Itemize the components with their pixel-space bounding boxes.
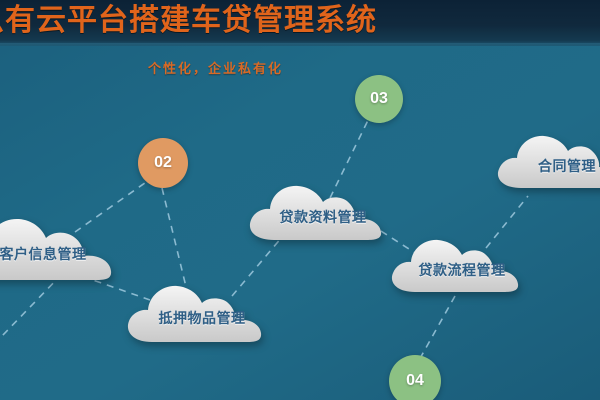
cloud-loan-process[interactable]: 贷款流程管理 [386,232,538,300]
cloud-loan-documents[interactable]: 贷款资料管理 [244,178,402,248]
node-03-label: 03 [370,90,388,108]
cloud-label-loan-documents: 贷款资料管理 [244,207,402,227]
cloud-label-contract: 合同管理 [492,156,600,176]
node-04[interactable]: 04 [389,355,441,400]
node-02-label: 02 [154,154,172,172]
header-band: 么有云平台搭建车贷管理系统 [0,0,600,46]
cloud-label-customer-info: 客户信息管理 [0,244,128,264]
node-02[interactable]: 02 [138,138,188,188]
page-subtitle: 个性化，企业私有化 [148,58,283,77]
cloud-label-collateral-goods: 抵押物品管理 [122,308,282,328]
node-04-label: 04 [406,372,424,390]
page-title: 么有云平台搭建车贷管理系统 [0,2,600,40]
cloud-collateral-goods[interactable]: 抵押物品管理 [122,278,282,350]
cloud-contract[interactable]: 合同管理 [492,128,600,196]
cloud-label-loan-process: 贷款流程管理 [386,260,538,280]
cloud-customer-info[interactable]: 客户信息管理 [0,210,128,288]
node-03[interactable]: 03 [355,75,403,123]
connector-process-to-node04 [418,296,455,362]
diagram-canvas: 么有云平台搭建车贷管理系统 个性化，企业私有化 客户信息管理 [0,0,600,400]
